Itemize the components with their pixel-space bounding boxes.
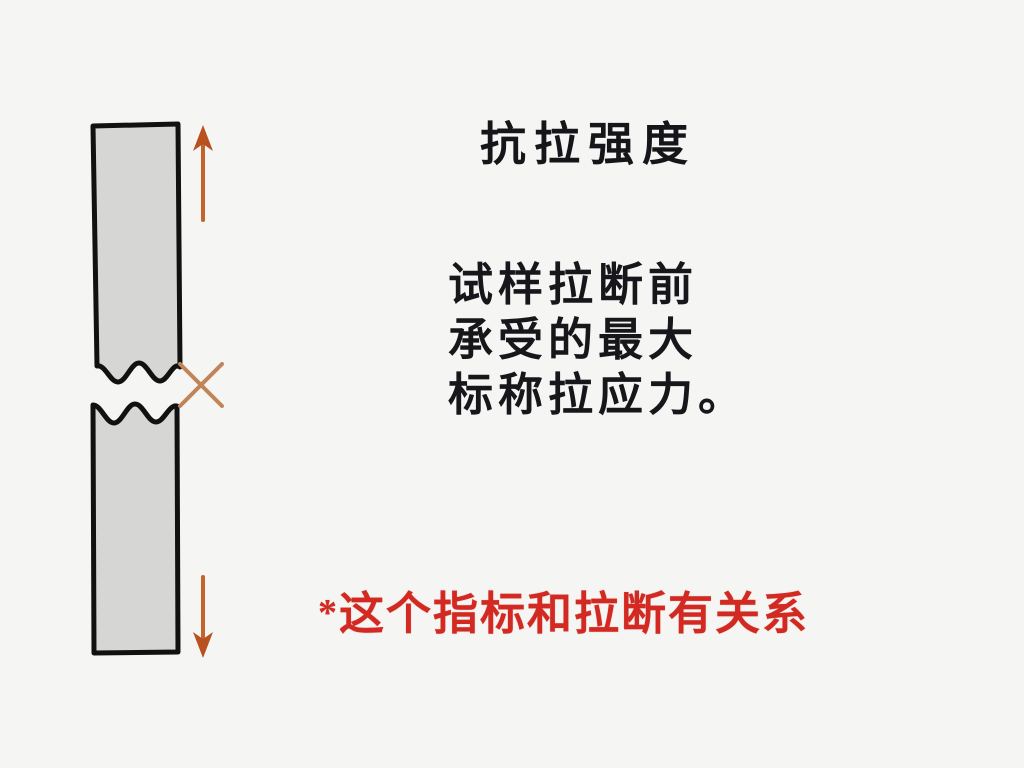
text-column: 抗拉强度 试样拉断前 承受的最大 标称拉应力。 *这个指标和拉断有关系 [300,100,1000,700]
tension-arrow-down-icon [193,577,213,658]
specimen-svg [70,105,255,670]
tension-arrow-up-icon [193,125,213,220]
definition-line-3: 标称拉应力。 [448,368,748,423]
fracture-cross-icon [180,364,222,406]
page-title: 抗拉强度 [480,120,696,171]
lower-specimen-segment [93,404,178,653]
note-label: 这个指标和拉断有关系 [339,589,809,639]
tensile-specimen-diagram [70,105,255,670]
upper-specimen-segment [93,124,180,382]
definition-line-2: 承受的最大 [448,313,748,368]
note-asterisk-marker: * [318,592,339,634]
definition-line-1: 试样拉断前 [448,258,748,313]
definition-text: 试样拉断前 承受的最大 标称拉应力。 [448,258,748,423]
slide-canvas: 抗拉强度 试样拉断前 承受的最大 标称拉应力。 *这个指标和拉断有关系 [0,0,1024,768]
note-callout: *这个指标和拉断有关系 [318,590,809,640]
